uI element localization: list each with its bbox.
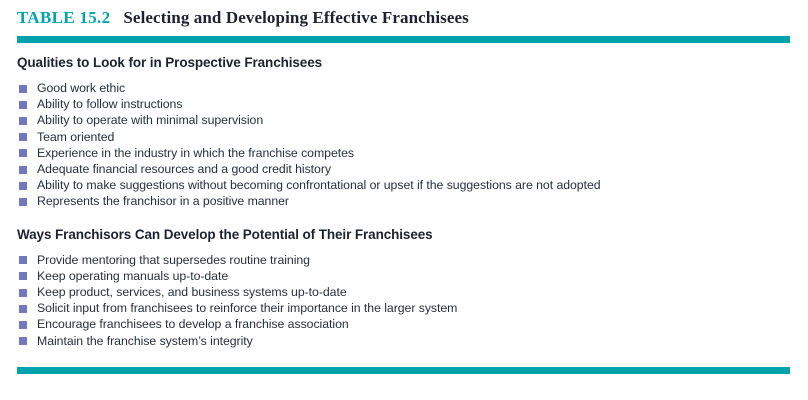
square-bullet-icon: [19, 133, 27, 141]
square-bullet-icon: [19, 256, 27, 264]
list-item: Team oriented: [17, 129, 792, 145]
list-item-label: Maintain the franchise system’s integrit…: [37, 334, 253, 348]
square-bullet-icon: [19, 149, 27, 157]
list-item: Good work ethic: [17, 80, 792, 96]
bottom-rule-divider: [17, 367, 790, 374]
bullet-list-development: Provide mentoring that supersedes routin…: [17, 252, 792, 349]
square-bullet-icon: [19, 289, 27, 297]
list-item: Ability to operate with minimal supervis…: [17, 112, 792, 128]
section-heading: Qualities to Look for in Prospective Fra…: [17, 55, 792, 71]
list-item: Represents the franchisor in a positive …: [17, 193, 792, 209]
list-item-label: Team oriented: [37, 130, 114, 144]
section-heading: Ways Franchisors Can Develop the Potenti…: [17, 227, 792, 243]
list-item-label: Experience in the industry in which the …: [37, 146, 354, 160]
section-qualities: Qualities to Look for in Prospective Fra…: [17, 55, 792, 210]
list-item: Maintain the franchise system’s integrit…: [17, 333, 792, 349]
list-item: Provide mentoring that supersedes routin…: [17, 252, 792, 268]
square-bullet-icon: [19, 182, 27, 190]
list-item-label: Ability to follow instructions: [37, 97, 182, 111]
list-item: Ability to follow instructions: [17, 96, 792, 112]
list-item-label: Encourage franchisees to develop a franc…: [37, 317, 349, 331]
top-rule-divider: [17, 36, 790, 43]
table-body: Qualities to Look for in Prospective Fra…: [17, 55, 792, 349]
list-item: Ability to make suggestions without beco…: [17, 177, 792, 193]
list-item-label: Ability to make suggestions without beco…: [37, 178, 601, 192]
list-item: Keep operating manuals up-to-date: [17, 268, 792, 284]
list-item-label: Keep product, services, and business sys…: [37, 285, 347, 299]
square-bullet-icon: [19, 85, 27, 93]
square-bullet-icon: [19, 305, 27, 313]
list-item: Adequate financial resources and a good …: [17, 161, 792, 177]
list-item-label: Ability to operate with minimal supervis…: [37, 113, 263, 127]
table-title: Selecting and Developing Effective Franc…: [123, 8, 469, 28]
square-bullet-icon: [19, 337, 27, 345]
list-item: Encourage franchisees to develop a franc…: [17, 316, 792, 332]
list-item: Keep product, services, and business sys…: [17, 284, 792, 300]
list-item-label: Keep operating manuals up-to-date: [37, 269, 228, 283]
bullet-list-qualities: Good work ethic Ability to follow instru…: [17, 80, 792, 210]
square-bullet-icon: [19, 272, 27, 280]
square-bullet-icon: [19, 166, 27, 174]
square-bullet-icon: [19, 101, 27, 109]
list-item-label: Represents the franchisor in a positive …: [37, 194, 289, 208]
square-bullet-icon: [19, 117, 27, 125]
list-item-label: Adequate financial resources and a good …: [37, 162, 331, 176]
list-item: Experience in the industry in which the …: [17, 145, 792, 161]
list-item-label: Good work ethic: [37, 81, 125, 95]
section-development: Ways Franchisors Can Develop the Potenti…: [17, 227, 792, 349]
square-bullet-icon: [19, 198, 27, 206]
table-number-label: TABLE 15.2: [17, 8, 110, 28]
square-bullet-icon: [19, 321, 27, 329]
list-item-label: Provide mentoring that supersedes routin…: [37, 253, 310, 267]
table-figure: TABLE 15.2 Selecting and Developing Effe…: [0, 0, 808, 400]
list-item: Solicit input from franchisees to reinfo…: [17, 300, 792, 316]
list-item-label: Solicit input from franchisees to reinfo…: [37, 301, 457, 315]
table-header: TABLE 15.2 Selecting and Developing Effe…: [17, 8, 469, 28]
